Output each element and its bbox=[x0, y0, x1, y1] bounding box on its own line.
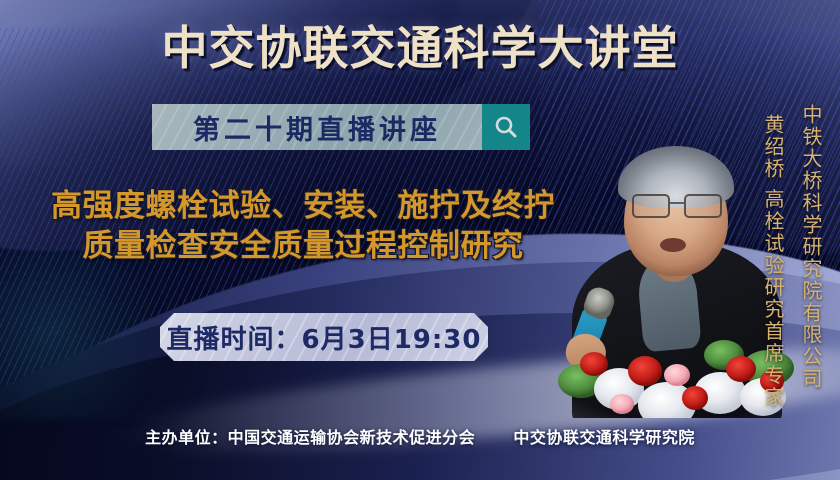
broadcast-time-label: 直播时间：6月3日19:30 bbox=[167, 319, 482, 356]
headline-line-2: 质量检查安全质量过程控制研究 bbox=[6, 226, 600, 266]
speaker-organization: 中铁大桥科学研究院有限公司 bbox=[797, 104, 826, 390]
speaker-mouth bbox=[660, 238, 686, 252]
live-lecture-poster: 中交协联交通科学大讲堂 第二十期直播讲座 高强度螺栓试验、安装、施拧及终拧 质量… bbox=[0, 0, 840, 480]
lecture-headline: 高强度螺栓试验、安装、施拧及终拧 质量检查安全质量过程控制研究 bbox=[6, 186, 600, 266]
broadcast-time-badge: 直播时间：6月3日19:30 bbox=[160, 313, 488, 361]
search-icon bbox=[493, 114, 519, 140]
speaker-glasses bbox=[630, 194, 724, 214]
organizer-footer: 主办单位：中国交通运输协会新技术促进分会 中交协联交通科学研究院 bbox=[0, 424, 840, 448]
episode-banner-label: 第二十期直播讲座 bbox=[193, 108, 441, 147]
search-button[interactable] bbox=[482, 104, 530, 150]
organizer-primary: 主办单位：中国交通运输协会新技术促进分会 bbox=[145, 428, 475, 447]
speaker-name-and-role: 黄绍桥 高栓试验研究首席专家 bbox=[759, 114, 788, 408]
page-title: 中交协联交通科学大讲堂 bbox=[0, 22, 840, 74]
headline-line-1: 高强度螺栓试验、安装、施拧及终拧 bbox=[51, 188, 555, 224]
episode-banner: 第二十期直播讲座 bbox=[152, 104, 482, 150]
organizer-secondary: 中交协联交通科学研究院 bbox=[513, 428, 695, 447]
